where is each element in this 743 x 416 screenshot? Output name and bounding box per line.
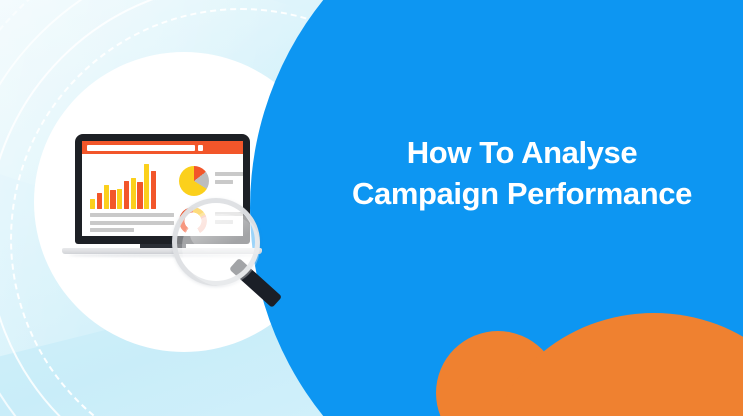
poster-canvas: How To Analyse Campaign Performance — [0, 0, 743, 416]
bar-chart — [90, 163, 156, 209]
browser-toolbar — [82, 141, 243, 154]
text-placeholder-lines — [90, 213, 174, 236]
bar-chart-bar — [104, 185, 109, 209]
legend-line — [215, 172, 243, 176]
browser-menu-icon — [198, 145, 203, 151]
magnifier-rim — [172, 198, 260, 286]
pie-chart-legend — [215, 172, 243, 188]
page-title-line-2: Campaign Performance — [312, 174, 732, 215]
text-line — [90, 213, 174, 217]
bar-chart-bar — [117, 189, 122, 209]
bar-chart-bar — [110, 190, 115, 209]
address-bar — [87, 145, 195, 151]
bar-chart-bar — [144, 164, 149, 209]
bar-chart-bar — [137, 182, 142, 209]
bar-chart-bar — [131, 178, 136, 209]
magnifying-glass-icon — [172, 198, 302, 310]
text-line — [90, 221, 174, 225]
bar-chart-bar — [151, 171, 156, 209]
bar-chart-bar — [90, 199, 95, 209]
bar-chart-bar — [124, 181, 129, 209]
page-title: How To Analyse Campaign Performance — [312, 133, 732, 215]
page-title-line-1: How To Analyse — [312, 133, 732, 174]
text-line — [90, 228, 134, 232]
pie-chart — [179, 166, 209, 196]
magnifier-lens — [182, 208, 260, 286]
bar-chart-bar — [97, 193, 102, 209]
magnifier-glare — [190, 214, 254, 254]
legend-line — [215, 180, 233, 184]
